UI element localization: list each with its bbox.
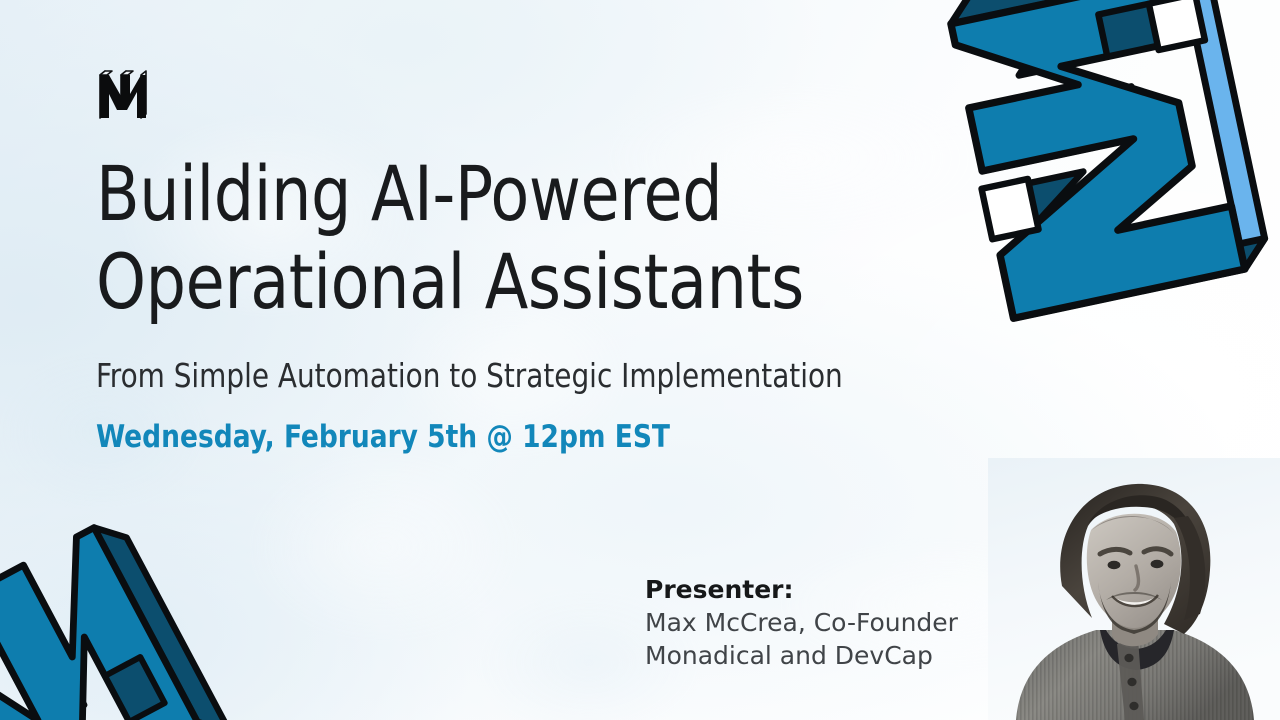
webinar-slide: Building AI-Powered Operational Assistan… bbox=[0, 0, 1280, 720]
monadical-m-logo-icon bbox=[93, 66, 155, 128]
presenter-company: Monadical and DevCap bbox=[645, 639, 1005, 672]
presenter-headshot-photo bbox=[988, 458, 1280, 720]
presenter-label: Presenter: bbox=[645, 574, 1005, 606]
slide-content: Building AI-Powered Operational Assistan… bbox=[96, 150, 996, 456]
slide-subtitle: From Simple Automation to Strategic Impl… bbox=[96, 356, 942, 396]
presenter-name-role: Max McCrea, Co-Founder bbox=[645, 606, 1005, 639]
monadical-3d-m-logo-icon-bottom-left bbox=[0, 488, 248, 720]
presenter-block: Presenter: Max McCrea, Co-Founder Monadi… bbox=[645, 574, 1005, 672]
page-title: Building AI-Powered Operational Assistan… bbox=[96, 150, 933, 326]
event-date: Wednesday, February 5th @ 12pm EST bbox=[96, 418, 951, 456]
